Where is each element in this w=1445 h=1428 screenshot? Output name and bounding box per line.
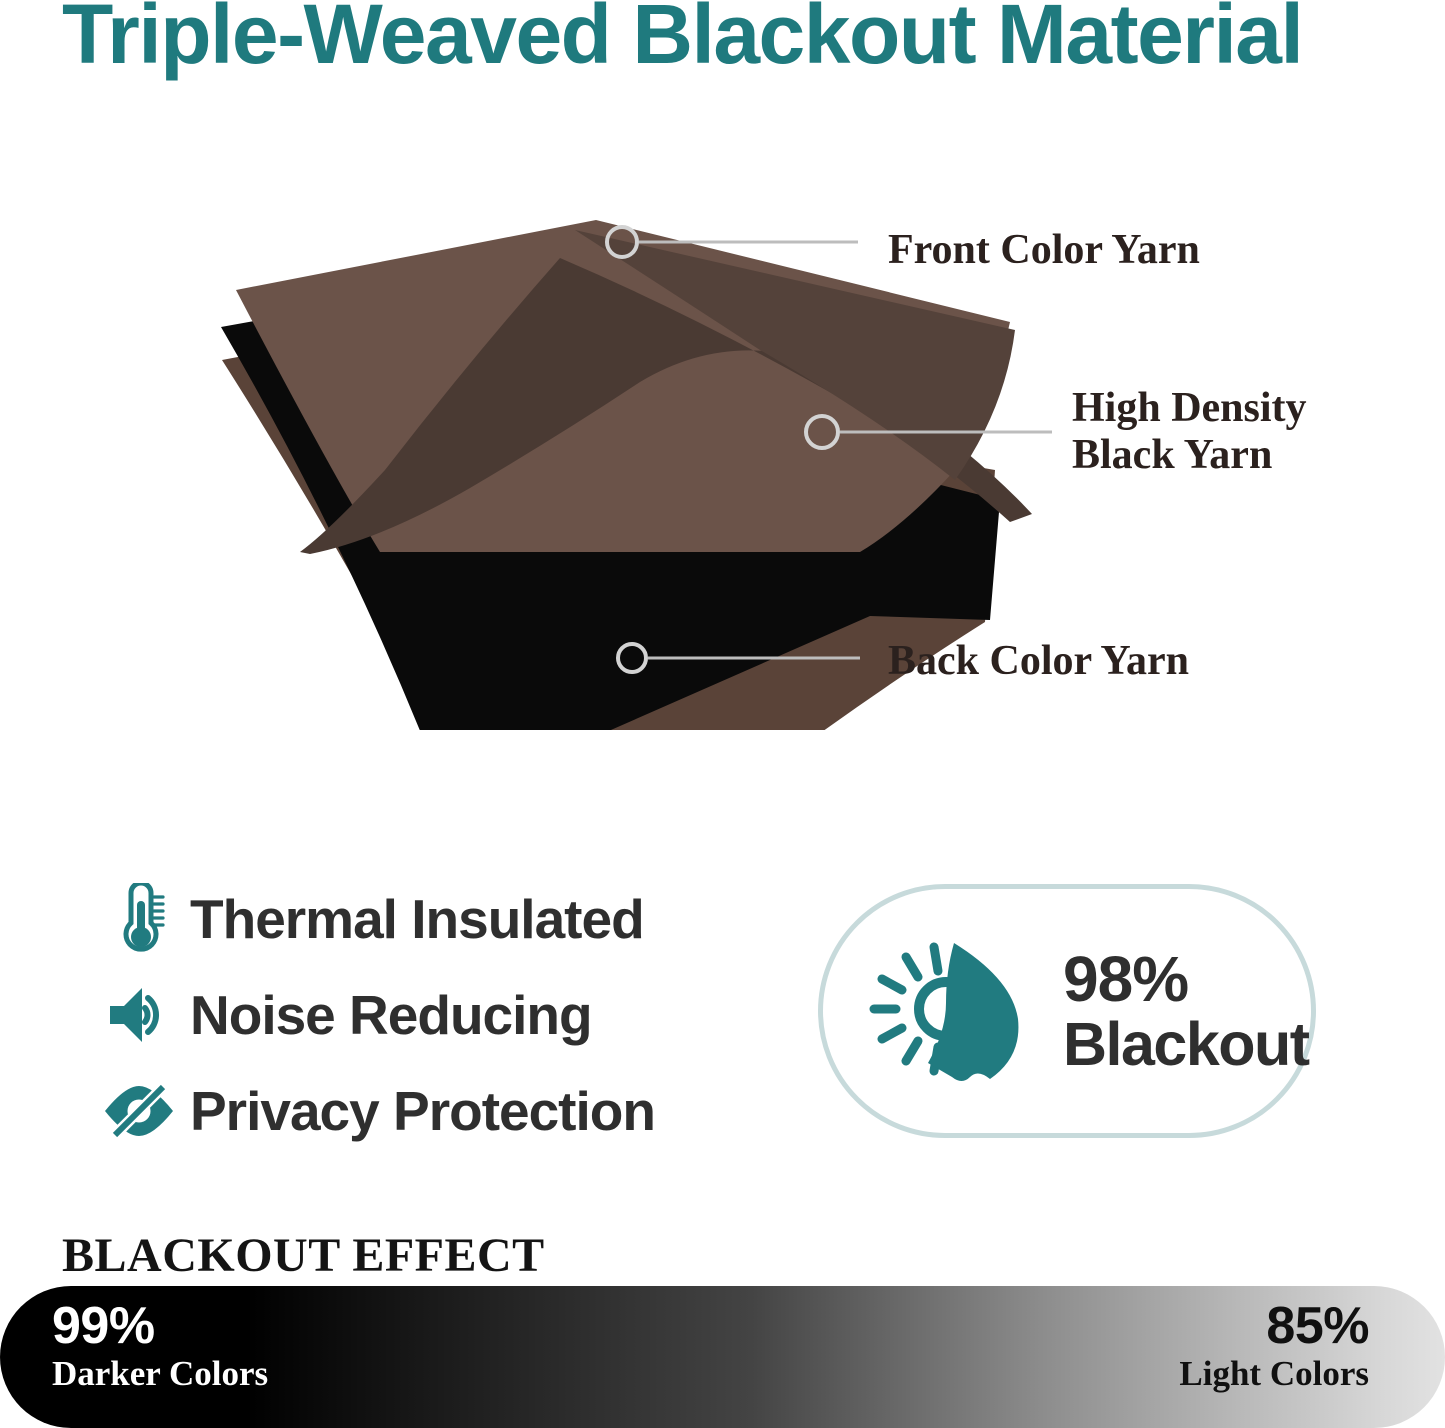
blackout-badge-text: 98% Blackout — [1063, 947, 1309, 1074]
light-colors-percent: 85% — [1179, 1300, 1369, 1352]
label-high-density-line2: Black Yarn — [1072, 432, 1272, 478]
feature-list: Thermal Insulated Noise Reducing Privacy… — [100, 875, 760, 1163]
thermometer-icon — [100, 882, 178, 956]
blackout-stat-darker-colors: 99% Darker Colors — [52, 1300, 268, 1391]
blackout-word: Blackout — [1063, 1013, 1309, 1075]
label-front-color-yarn: Front Color Yarn — [888, 227, 1200, 274]
label-high-density-line1: High Density — [1072, 385, 1307, 431]
fabric-layers-diagram: Front Color Yarn High Density Black Yarn… — [0, 170, 1445, 730]
darker-colors-percent: 99% — [52, 1300, 268, 1352]
eye-slash-icon — [100, 1074, 178, 1148]
feature-item-thermal-insulated: Thermal Insulated — [100, 875, 760, 963]
feature-item-noise-reducing: Noise Reducing — [100, 971, 760, 1059]
sun-blocked-by-curtain-icon — [863, 931, 1041, 1091]
label-back-color-yarn: Back Color Yarn — [888, 638, 1189, 685]
blackout-percent: 98% — [1063, 947, 1309, 1012]
blackout-percentage-badge: 98% Blackout — [818, 884, 1316, 1138]
feature-item-privacy-protection: Privacy Protection — [100, 1067, 760, 1155]
feature-label-thermal-insulated: Thermal Insulated — [190, 887, 644, 951]
speaker-sound-icon — [100, 978, 178, 1052]
blackout-stat-light-colors: 85% Light Colors — [1179, 1300, 1369, 1391]
feature-label-privacy-protection: Privacy Protection — [190, 1079, 655, 1143]
page-title: Triple-Weaved Blackout Material — [62, 0, 1302, 76]
darker-colors-caption: Darker Colors — [52, 1356, 268, 1391]
feature-label-noise-reducing: Noise Reducing — [190, 983, 592, 1047]
light-colors-caption: Light Colors — [1179, 1356, 1369, 1391]
label-high-density-black-yarn: High Density Black Yarn — [1072, 385, 1372, 479]
blackout-effect-heading: BLACKOUT EFFECT — [62, 1228, 545, 1283]
